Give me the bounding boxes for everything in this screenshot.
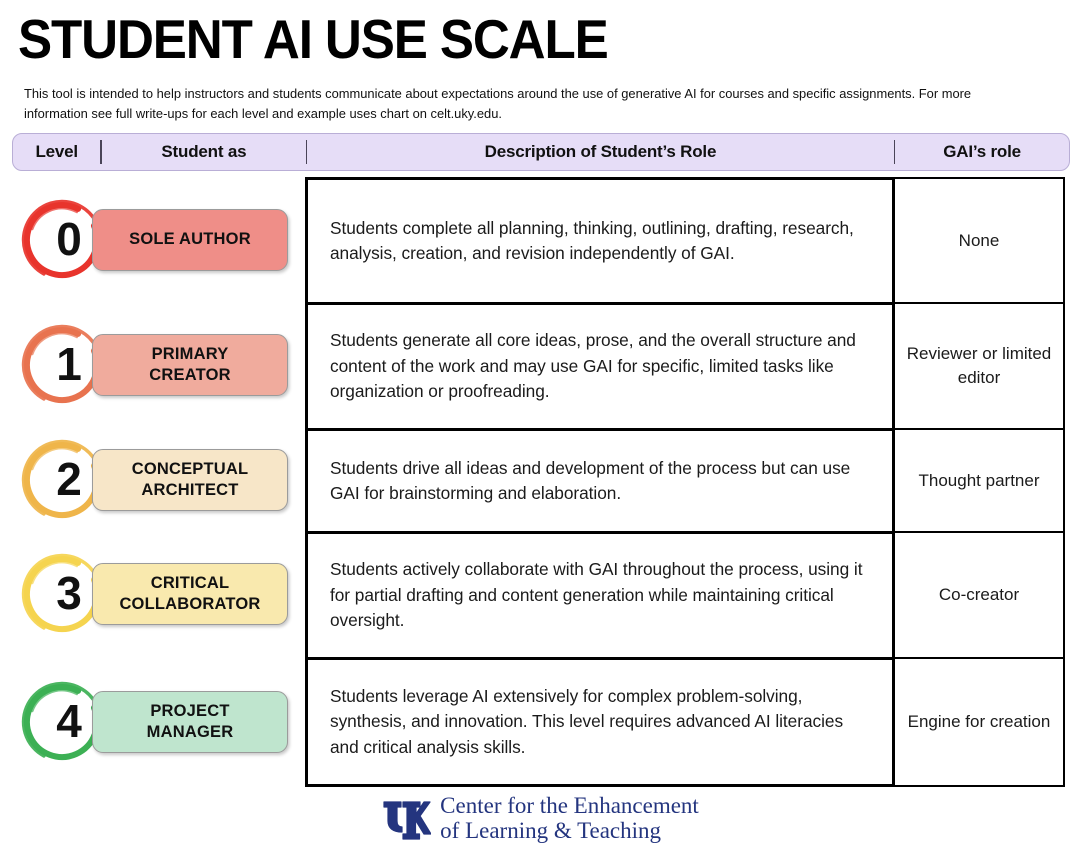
celt-line2: of Learning & Teaching	[440, 818, 699, 843]
description-cell: Students actively collaborate with GAI t…	[305, 531, 895, 657]
gai-role-cell: Engine for creation	[895, 657, 1065, 787]
celt-wordmark: Center for the Enhancement of Learning &…	[440, 793, 699, 843]
level-number: 2	[56, 456, 82, 502]
gai-role-text: Co-creator	[939, 583, 1019, 607]
level-badge-cell: 1 PRIMARY CREATOR	[0, 302, 305, 428]
gai-role-cell: Reviewer or limited editor	[895, 302, 1065, 428]
gai-role-text: None	[959, 229, 1000, 253]
gai-role-text: Reviewer or limited editor	[895, 342, 1063, 390]
student-role-line2: CREATOR	[149, 365, 230, 386]
gai-role-cell: Co-creator	[895, 531, 1065, 657]
student-role-pill: PROJECT MANAGER	[92, 691, 288, 753]
footer-logo: Center for the Enhancement of Learning &…	[0, 793, 1080, 843]
table-header-row: Level Student as Description of Student’…	[12, 133, 1070, 171]
level-badge-cell: 3 CRITICAL COLLABORATOR	[0, 531, 305, 657]
student-role-pill: CONCEPTUAL ARCHITECT	[92, 449, 288, 511]
student-role-line1: CRITICAL	[151, 573, 230, 594]
description-cell: Students generate all core ideas, prose,…	[305, 302, 895, 428]
description-text: Students generate all core ideas, prose,…	[330, 328, 870, 405]
description-text: Students drive all ideas and development…	[330, 456, 870, 507]
student-role-line1: CONCEPTUAL	[132, 459, 249, 480]
student-role-line1: SOLE AUTHOR	[129, 229, 251, 250]
student-role-pill: SOLE AUTHOR	[92, 209, 288, 271]
level-number: 0	[56, 216, 82, 262]
student-role-pill: PRIMARY CREATOR	[92, 334, 288, 396]
gai-role-text: Thought partner	[919, 469, 1040, 493]
student-role-line2: ARCHITECT	[141, 480, 238, 501]
level-number: 3	[56, 570, 82, 616]
table-row: 3 CRITICAL COLLABORATOR Students activel…	[0, 531, 1080, 657]
description-cell: Students leverage AI extensively for com…	[305, 657, 895, 787]
student-role-line2: MANAGER	[147, 722, 234, 743]
gai-role-cell: Thought partner	[895, 428, 1065, 531]
table-row: 0 SOLE AUTHOR Students complete all plan…	[0, 177, 1080, 302]
description-cell: Students drive all ideas and development…	[305, 428, 895, 531]
table-row: 1 PRIMARY CREATOR Students generate all …	[0, 302, 1080, 428]
column-header-student-as: Student as	[102, 134, 306, 170]
table-body: 0 SOLE AUTHOR Students complete all plan…	[0, 177, 1080, 787]
page-subtitle: This tool is intended to help instructor…	[24, 84, 1021, 123]
description-cell: Students complete all planning, thinking…	[305, 177, 895, 302]
column-header-gai-role: GAI’s role	[895, 134, 1069, 170]
level-badge-cell: 2 CONCEPTUAL ARCHITECT	[0, 428, 305, 531]
table-row: 2 CONCEPTUAL ARCHITECT Students drive al…	[0, 428, 1080, 531]
level-badge-cell: 4 PROJECT MANAGER	[0, 657, 305, 787]
column-header-description: Description of Student’s Role	[307, 134, 893, 170]
student-role-line1: PROJECT	[150, 701, 229, 722]
gai-role-cell: None	[895, 177, 1065, 302]
level-badge-cell: 0 SOLE AUTHOR	[0, 177, 305, 302]
page-title: STUDENT AI USE SCALE	[18, 6, 608, 72]
column-header-level: Level	[13, 134, 100, 170]
description-text: Students complete all planning, thinking…	[330, 216, 870, 267]
table-row: 4 PROJECT MANAGER Students leverage AI e…	[0, 657, 1080, 787]
level-number: 4	[56, 698, 82, 744]
description-text: Students leverage AI extensively for com…	[330, 684, 870, 761]
student-role-line1: PRIMARY	[152, 344, 229, 365]
description-text: Students actively collaborate with GAI t…	[330, 557, 870, 634]
celt-line1: Center for the Enhancement	[440, 793, 699, 818]
student-role-line2: COLLABORATOR	[119, 594, 260, 615]
uk-monogram-icon	[381, 795, 431, 841]
student-role-pill: CRITICAL COLLABORATOR	[92, 563, 288, 625]
gai-role-text: Engine for creation	[908, 710, 1051, 734]
level-number: 1	[56, 341, 82, 387]
